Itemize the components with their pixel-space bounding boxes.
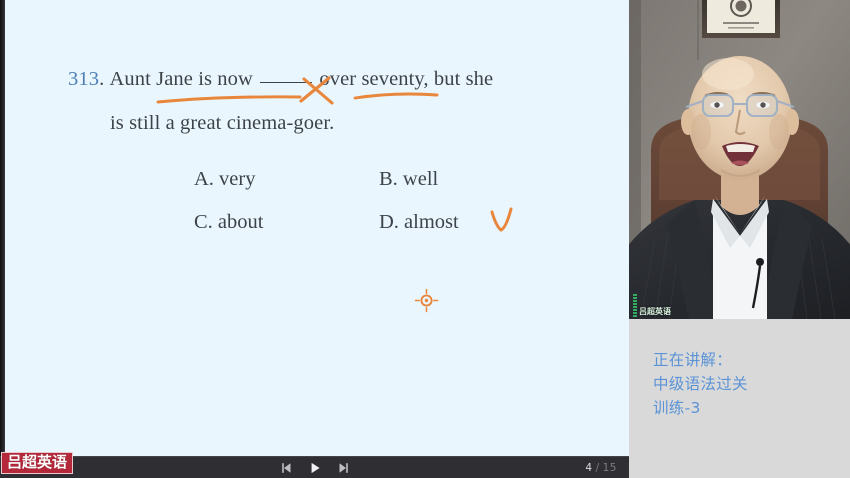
next-slide-button[interactable]	[336, 461, 350, 475]
video-frame	[629, 0, 850, 319]
question-number-suffix: .	[99, 68, 104, 90]
option-b[interactable]: B. well	[379, 168, 438, 191]
video-watermark: 吕超英语	[633, 294, 671, 317]
caption-line-2: 中级语法过关	[653, 372, 843, 396]
instructor-video-feed[interactable]: 吕超英语	[629, 0, 850, 319]
play-triangle-icon	[308, 461, 322, 475]
question-number: 313	[68, 68, 99, 90]
video-watermark-text: 吕超英语	[639, 308, 671, 317]
question-text-before-blank: Aunt Jane is now	[110, 68, 253, 90]
lecture-player-window: 313. Aunt Jane is now over seventy, but …	[0, 0, 850, 478]
caption-panel: 正在讲解： 中级语法过关 训练-3	[629, 319, 850, 478]
question-blank	[260, 82, 312, 83]
laser-crosshair-icon	[413, 286, 440, 315]
page-current: 4	[585, 462, 592, 474]
question-block: 313. Aunt Jane is now over seventy, but …	[5, 0, 629, 456]
option-c[interactable]: C. about	[194, 211, 263, 234]
question-line-2: is still a great cinema-goer.	[110, 112, 334, 135]
caption-line-3: 训练-3	[653, 396, 843, 420]
player-toolbar: 4 / 15	[0, 456, 629, 478]
play-button[interactable]	[308, 461, 322, 475]
caption-line-1: 正在讲解：	[653, 348, 843, 372]
video-watermark-bars-icon	[633, 294, 637, 317]
question-text-after-blank: over seventy, but she	[319, 68, 493, 90]
page-separator: /	[596, 462, 600, 474]
transport-controls	[280, 457, 350, 478]
question-line-1: 313. Aunt Jane is now over seventy, but …	[68, 68, 493, 91]
page-total: 15	[603, 462, 617, 474]
framed-certificate	[702, 0, 780, 38]
slide-canvas[interactable]: 313. Aunt Jane is now over seventy, but …	[5, 0, 629, 456]
next-triangle-icon	[336, 461, 350, 475]
previous-slide-button[interactable]	[280, 461, 294, 475]
brand-watermark-badge: 吕超英语	[1, 452, 73, 474]
prev-triangle-icon	[280, 461, 294, 475]
option-a[interactable]: A. very	[194, 168, 255, 191]
page-indicator: 4 / 15	[585, 457, 617, 478]
option-d[interactable]: D. almost	[379, 211, 459, 234]
now-teaching-caption: 正在讲解： 中级语法过关 训练-3	[653, 348, 843, 420]
slide-pane: 313. Aunt Jane is now over seventy, but …	[0, 0, 629, 456]
right-pane: 吕超英语 正在讲解： 中级语法过关 训练-3	[629, 0, 850, 478]
